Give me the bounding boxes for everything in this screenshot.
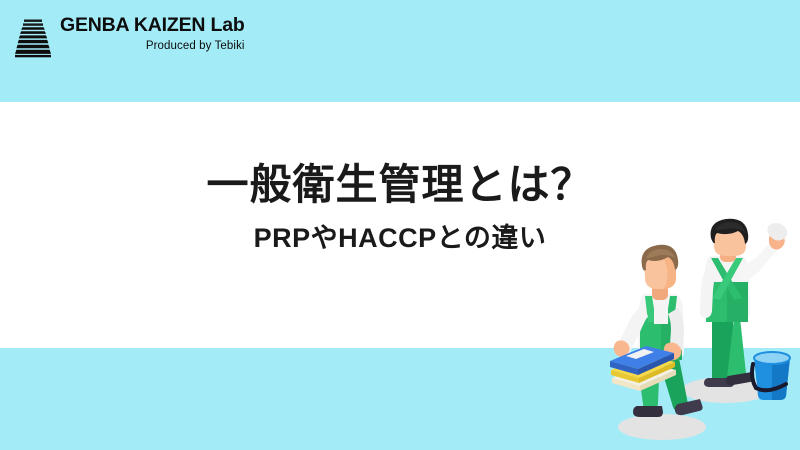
slide-canvas: GENBA KAIZEN Lab Produced by Tebiki 一般衛生… <box>0 0 800 450</box>
shoe-front-icon <box>633 406 663 417</box>
logo-subtitle: Produced by Tebiki <box>146 41 245 53</box>
logo-text-block: GENBA KAIZEN Lab Produced by Tebiki <box>60 16 245 52</box>
brand-logo[interactable]: GENBA KAIZEN Lab Produced by Tebiki <box>14 16 245 58</box>
water-bucket-icon <box>752 352 790 400</box>
page-title: 一般衛生管理とは？ <box>0 160 800 210</box>
stacked-pyramid-logo-mark-icon <box>14 18 52 58</box>
floor-shadow-left-icon <box>618 414 706 440</box>
workers-illustration-svg <box>600 218 800 450</box>
logo-title: GENBA KAIZEN Lab <box>60 16 245 36</box>
two-cleaning-workers-illustration <box>600 218 800 450</box>
